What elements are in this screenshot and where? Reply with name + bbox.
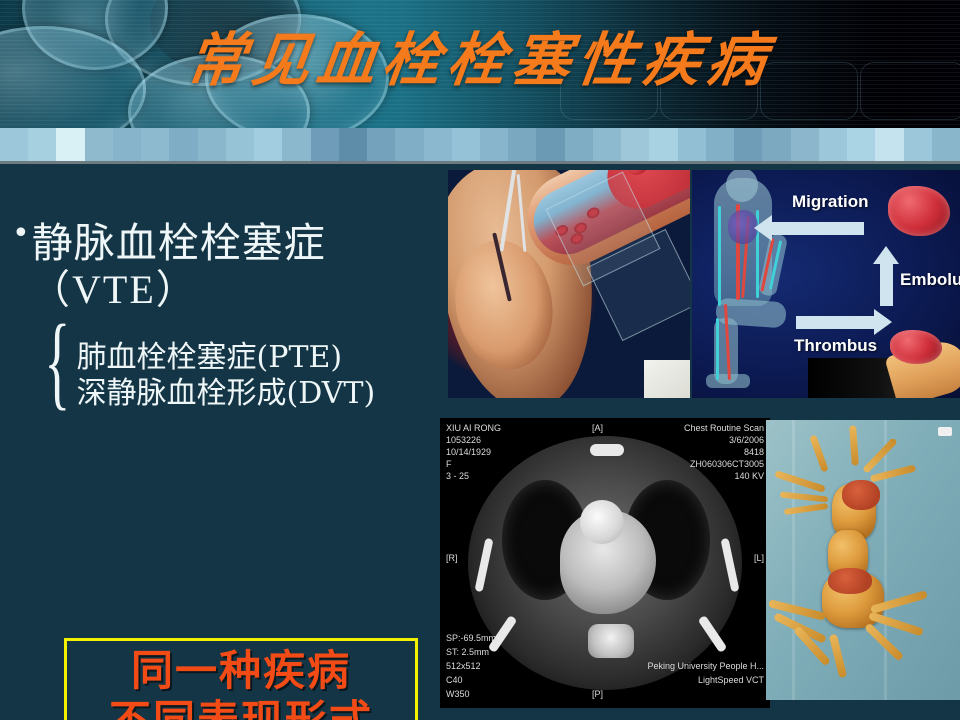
band-stripe — [282, 128, 310, 161]
specimen-scale-marker — [938, 427, 952, 436]
band-stripe — [85, 128, 113, 161]
embolus-arrow-head — [873, 246, 899, 264]
band-stripe — [395, 128, 423, 161]
thrombus-specimen-photo — [766, 420, 960, 700]
band-stripe — [198, 128, 226, 161]
band-stripe — [480, 128, 508, 161]
band-stripe — [593, 128, 621, 161]
vein-line — [718, 206, 721, 306]
band-stripe — [113, 128, 141, 161]
band-stripe — [28, 128, 56, 161]
band-stripe — [0, 128, 28, 161]
main-bullet-item: •静脉血栓栓塞症 （VTE） — [12, 216, 432, 314]
sub-items-list: 肺血栓栓塞症(PTE) 深静脉血栓形成(DVT) — [77, 340, 376, 412]
cast-branch — [780, 492, 828, 503]
band-stripe — [904, 128, 932, 161]
sub-item-dvt: 深静脉血栓形成(DVT) — [77, 376, 376, 412]
band-stripe — [762, 128, 790, 161]
cast-branch — [870, 465, 916, 483]
cast-branch — [862, 437, 898, 474]
ct-orientation-left: [L] — [754, 552, 764, 564]
highlight-callout-box: 同一种疾病 不同表现形式 — [64, 638, 418, 720]
extracted-thrombus-cast — [798, 438, 924, 678]
band-stripe — [678, 128, 706, 161]
callout-line-2: 不同表现形式 — [109, 696, 373, 720]
ct-orientation-anterior: [A] — [592, 422, 603, 434]
curly-brace-icon: { — [44, 324, 70, 428]
migration-label: Migration — [792, 192, 869, 212]
migration-arrow-head — [754, 215, 772, 241]
band-stripe — [649, 128, 677, 161]
main-item-label: 静脉血栓栓塞症 — [32, 219, 326, 267]
embolus-clot-image — [888, 186, 950, 236]
ct-orientation-posterior: [P] — [592, 688, 603, 700]
band-stripe — [254, 128, 282, 161]
sub-items-group: { 肺血栓栓塞症(PTE) 深静脉血栓形成(DVT) — [40, 340, 440, 412]
band-stripe — [875, 128, 903, 161]
ct-birth-date: 10/14/1929 — [446, 446, 491, 458]
band-edge-line — [0, 161, 960, 164]
slide-header-banner: 常见血栓栓塞性疾病 — [0, 0, 960, 128]
ct-institution: Peking University People H... — [647, 660, 764, 672]
ct-kv: 140 KV — [734, 470, 764, 482]
band-stripe — [311, 128, 339, 161]
page-title: 常见血栓栓塞性疾病 — [0, 30, 960, 90]
embolus-label: Embolus — [900, 270, 960, 290]
band-stripe — [226, 128, 254, 161]
ct-window: W350 — [446, 688, 470, 700]
ct-matrix: 512x512 — [446, 660, 481, 672]
dvt-anatomy-illustration — [448, 170, 690, 398]
decorative-stripe-band — [0, 128, 960, 161]
ct-slice-thickness: ST: 2.5mm — [446, 646, 489, 658]
ct-slice-position: SP:-69.5mm — [446, 632, 496, 644]
band-stripe — [734, 128, 762, 161]
band-stripe — [141, 128, 169, 161]
cast-branch — [849, 425, 859, 465]
migration-arrow-shaft — [772, 222, 864, 235]
illustration-corner-patch — [644, 360, 690, 398]
ct-patient-id: 1053226 — [446, 434, 481, 446]
band-stripe — [536, 128, 564, 161]
ct-spine — [588, 624, 634, 658]
ct-sternum — [590, 444, 624, 456]
band-stripe — [56, 128, 84, 161]
chest-ct-scan-image: XIU AI RONG 1053226 10/14/1929 F 3 - 25 … — [440, 418, 770, 708]
ct-accession: 8418 — [744, 446, 764, 458]
ct-aorta — [580, 500, 624, 544]
vein-line — [716, 318, 719, 380]
band-stripe — [791, 128, 819, 161]
drape-fold — [792, 420, 795, 700]
presentation-slide: 常见血栓栓塞性疾病 •静脉血栓栓塞症 （VTE） { 肺血栓栓塞症(PTE) 深… — [0, 0, 960, 720]
main-item-abbreviation: （VTE） — [30, 266, 432, 314]
band-stripe — [819, 128, 847, 161]
left-content-column: •静脉血栓栓塞症 （VTE） { 肺血栓栓塞症(PTE) 深静脉血栓形成(DVT… — [0, 168, 438, 720]
band-stripe — [169, 128, 197, 161]
band-stripe — [932, 128, 960, 161]
ct-patient-name: XIU AI RONG — [446, 422, 501, 434]
thrombus-clot-image — [890, 330, 942, 364]
ct-study-description: Chest Routine Scan — [684, 422, 764, 434]
band-stripe — [339, 128, 367, 161]
band-stripe — [508, 128, 536, 161]
callout-line-1: 同一种疾病 — [131, 646, 351, 696]
band-stripe — [706, 128, 734, 161]
ct-study-uid: ZH060306CT3005 — [690, 458, 764, 470]
band-stripe — [847, 128, 875, 161]
ct-kernel: C40 — [446, 674, 463, 686]
thrombus-migration-diagram: Migration Thrombus Embolus — [692, 170, 960, 398]
cast-branch — [774, 470, 826, 493]
ct-scanner: LightSpeed VCT — [698, 674, 764, 686]
thrombus-label: Thrombus — [794, 336, 877, 356]
ct-scan-date: 3/6/2006 — [729, 434, 764, 446]
band-stripe — [621, 128, 649, 161]
cast-branch — [829, 634, 847, 679]
ct-series: 3 - 25 — [446, 470, 469, 482]
cast-branch — [784, 503, 828, 515]
sub-item-pte: 肺血栓栓塞症(PTE) — [77, 340, 376, 376]
ct-sex: F — [446, 458, 452, 470]
cast-segment-red — [842, 480, 880, 510]
band-stripe — [565, 128, 593, 161]
bullet-marker: • — [12, 216, 30, 251]
ct-orientation-right: [R] — [446, 552, 458, 564]
band-stripe — [424, 128, 452, 161]
thrombus-arrow-head — [874, 309, 892, 335]
thrombus-arrow-shaft — [796, 316, 874, 329]
cast-branch — [809, 434, 829, 472]
band-stripe — [452, 128, 480, 161]
cast-segment-red — [828, 568, 872, 594]
band-stripe — [367, 128, 395, 161]
embolus-arrow-shaft — [880, 262, 893, 306]
